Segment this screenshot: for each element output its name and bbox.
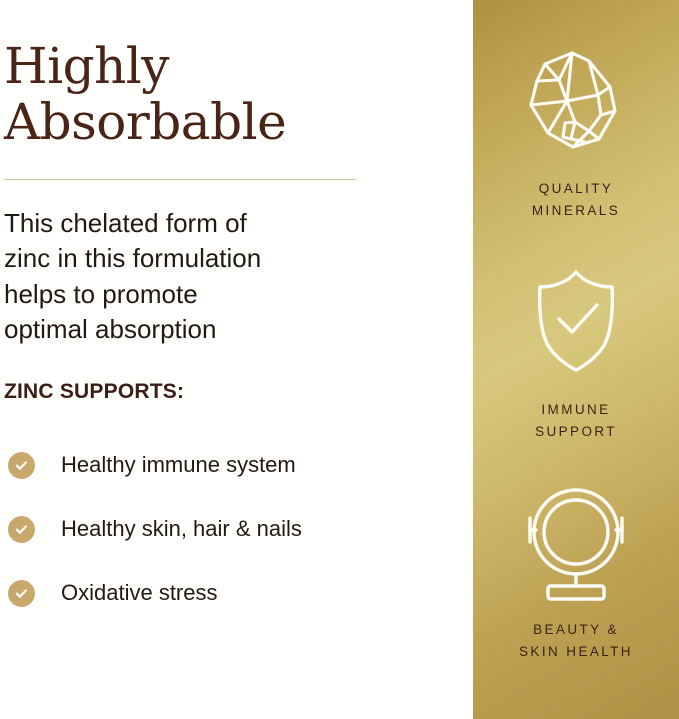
feature-immune-support: IMMUNE SUPPORT	[473, 257, 679, 444]
list-item-label: Healthy skin, hair & nails	[61, 516, 302, 542]
check-circle-icon	[8, 580, 35, 607]
list-item: Healthy skin, hair & nails	[4, 497, 473, 561]
list-item-label: Healthy immune system	[61, 452, 296, 478]
description-line-1: This chelated form of	[4, 206, 334, 241]
feature-label-line-2: SUPPORT	[535, 421, 617, 443]
shield-check-icon	[518, 257, 634, 385]
list-item: Oxidative stress	[4, 561, 473, 625]
feature-label: BEAUTY & SKIN HEALTH	[519, 619, 633, 664]
left-content-pane: Highly Absorbable This chelated form of …	[0, 0, 473, 719]
list-item: Healthy immune system	[4, 433, 473, 497]
page-title: Highly Absorbable	[4, 38, 364, 150]
feature-quality-minerals: QUALITY MINERALS	[473, 36, 679, 223]
check-circle-icon	[8, 516, 35, 543]
page-title-line-2: Absorbable	[4, 94, 364, 150]
description-line-4: optimal absorption	[4, 312, 334, 347]
list-item-label: Oxidative stress	[61, 580, 218, 606]
feature-beauty-skin-health: BEAUTY & SKIN HEALTH	[473, 477, 679, 664]
vanity-mirror-icon	[515, 477, 637, 605]
title-divider	[4, 179, 356, 180]
feature-label: QUALITY MINERALS	[532, 178, 620, 223]
feature-label-line-2: MINERALS	[532, 200, 620, 222]
feature-label-line-1: BEAUTY &	[519, 619, 633, 641]
check-circle-icon	[8, 452, 35, 479]
feature-label: IMMUNE SUPPORT	[535, 399, 617, 444]
benefits-list: Healthy immune system Healthy skin, hair…	[4, 433, 473, 625]
description-line-2: zinc in this formulation	[4, 241, 334, 276]
product-benefits-infographic: Highly Absorbable This chelated form of …	[0, 0, 679, 719]
page-title-line-1: Highly	[4, 38, 364, 94]
feature-panel: QUALITY MINERALS IMMUNE SUPPORT	[473, 0, 679, 719]
feature-label-line-1: QUALITY	[532, 178, 620, 200]
mineral-crystal-icon	[515, 36, 637, 164]
description-line-3: helps to promote	[4, 277, 334, 312]
feature-label-line-2: SKIN HEALTH	[519, 641, 633, 663]
feature-label-line-1: IMMUNE	[535, 399, 617, 421]
description-text: This chelated form of zinc in this formu…	[4, 206, 334, 347]
zinc-supports-heading: ZINC SUPPORTS:	[4, 380, 473, 404]
